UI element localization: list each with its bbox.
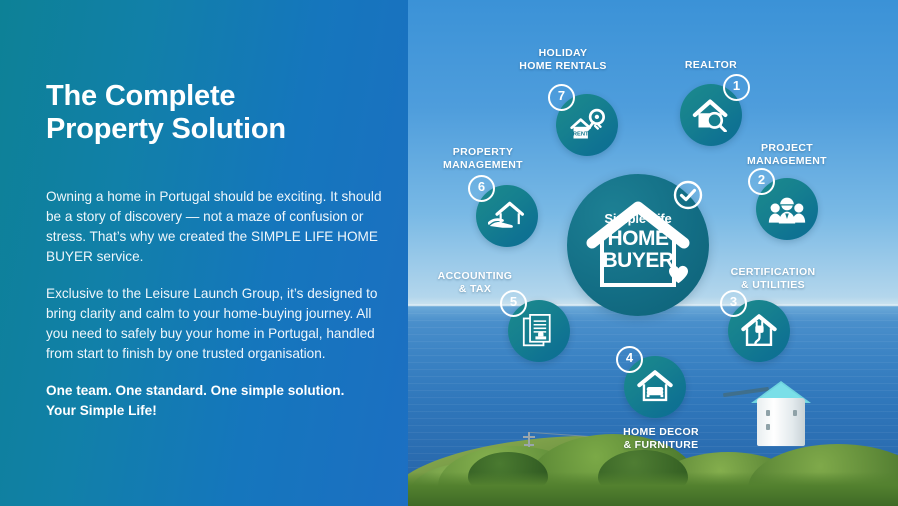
node-badge-7: 7 bbox=[548, 84, 575, 111]
node-label-accounting-tax: ACCOUNTING & TAX bbox=[408, 270, 550, 296]
svg-text:RENT: RENT bbox=[573, 131, 589, 137]
label-line-2: HOME RENTALS bbox=[519, 60, 606, 72]
label-line-1: PROJECT bbox=[761, 142, 813, 154]
kicker-line-1: One team. One standard. One simple solut… bbox=[46, 381, 384, 401]
headline-line-1: The Complete bbox=[46, 80, 235, 112]
node-label-home-decor-furniture: HOME DECOR & FURNITURE bbox=[586, 426, 736, 452]
node-project-management[interactable]: 2 bbox=[756, 178, 818, 240]
photo-panel: Simple Life HOME BUYER bbox=[408, 0, 898, 506]
node-badge-4: 4 bbox=[616, 346, 643, 373]
hub-simple-life-home-buyer[interactable]: Simple Life HOME BUYER bbox=[567, 174, 709, 316]
paragraph-1: Owning a home in Portugal should be exci… bbox=[46, 187, 384, 267]
node-label-project-management: PROJECT MANAGEMENT bbox=[712, 142, 862, 168]
label-line-2: & UTILITIES bbox=[741, 279, 805, 291]
label-line-1: HOME DECOR bbox=[623, 426, 699, 438]
services-diagram: Simple Life HOME BUYER bbox=[408, 0, 898, 506]
node-badge-5: 5 bbox=[500, 290, 527, 317]
label-line-2: & FURNITURE bbox=[623, 439, 698, 451]
kicker-line-2: Your Simple Life! bbox=[46, 401, 384, 421]
node-label-certification-utilities: CERTIFICATION & UTILITIES bbox=[698, 266, 848, 292]
node-realtor[interactable]: 1 bbox=[680, 84, 742, 146]
paragraph-2: Exclusive to the Leisure Launch Group, i… bbox=[46, 284, 384, 364]
check-circle-icon bbox=[673, 180, 703, 210]
node-holiday-home-rentals[interactable]: RENT 7 bbox=[556, 94, 618, 156]
node-badge-6: 6 bbox=[468, 175, 495, 202]
headline-line-2: Property Solution bbox=[46, 113, 386, 146]
label-line-1: ACCOUNTING bbox=[438, 270, 513, 282]
label-line-1: CERTIFICATION bbox=[731, 266, 816, 278]
node-badge-2: 2 bbox=[748, 168, 775, 195]
body-copy: Owning a home in Portugal should be exci… bbox=[46, 187, 384, 421]
node-label-holiday-home-rentals: HOLIDAY HOME RENTALS bbox=[488, 47, 638, 73]
label-line-1: REALTOR bbox=[685, 59, 737, 71]
node-badge-3: 3 bbox=[720, 290, 747, 317]
node-label-property-management: PROPERTY MANAGEMENT bbox=[408, 146, 558, 172]
heart-icon bbox=[668, 265, 689, 289]
node-badge-1: 1 bbox=[723, 74, 750, 101]
left-text-panel: The Complete Property Solution Owning a … bbox=[0, 0, 408, 506]
slide: The Complete Property Solution Owning a … bbox=[0, 0, 898, 506]
page-title: The Complete Property Solution bbox=[46, 80, 386, 147]
label-line-2: & TAX bbox=[459, 283, 491, 295]
node-accounting-tax[interactable]: 5 bbox=[508, 300, 570, 362]
label-line-1: PROPERTY bbox=[453, 146, 514, 158]
node-label-realtor: REALTOR bbox=[636, 59, 786, 72]
label-line-1: HOLIDAY bbox=[539, 47, 588, 59]
label-line-2: MANAGEMENT bbox=[747, 155, 827, 167]
node-home-decor-furniture[interactable]: 4 bbox=[624, 356, 686, 418]
node-property-management[interactable]: 6 bbox=[476, 185, 538, 247]
node-certification-utilities[interactable]: 3 bbox=[728, 300, 790, 362]
label-line-2: MANAGEMENT bbox=[443, 159, 523, 171]
